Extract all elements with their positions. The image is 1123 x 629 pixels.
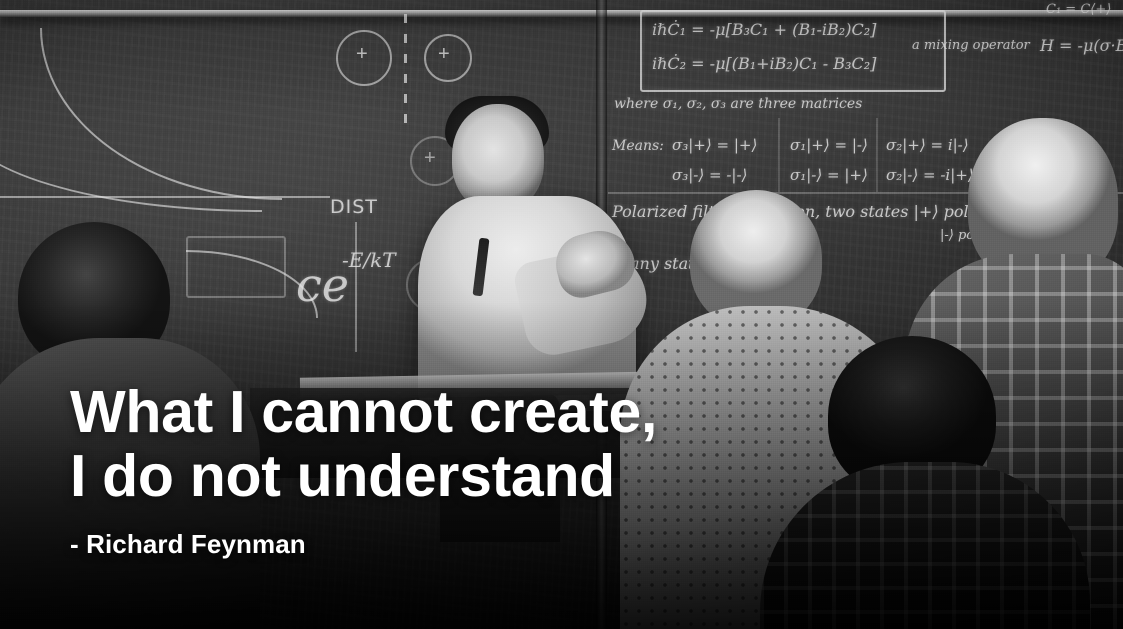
chalk-plus-2: +	[438, 44, 450, 64]
chalk-graph-axis	[355, 222, 357, 352]
chalk-ket-3: σ₁|+⟩ = |-⟩	[790, 136, 868, 154]
chalk-ket-5: σ₂|+⟩ = i|-⟩	[886, 136, 969, 154]
chalk-col-divider-2	[876, 118, 878, 192]
chalk-note-polarized: Polarized filter: direction, two states …	[612, 202, 1019, 221]
chalk-equation-1: iℏĊ₁ = -μ[B₃C₁ + (B₁-iB₂)C₂]	[652, 20, 876, 39]
quote-line-1: What I cannot create,	[70, 380, 770, 444]
chalk-note-mixing: a mixing operator	[912, 38, 1030, 53]
quote-line-2: I do not understand	[70, 444, 770, 508]
quote-block: What I cannot create, I do not understan…	[70, 380, 770, 560]
chalk-ket-6: σ₂|-⟩ = -i|+⟩	[886, 166, 974, 184]
chalk-ket-4: σ₁|-⟩ = |+⟩	[790, 166, 868, 184]
chalk-ket-2: σ₃|-⟩ = -|-⟩	[672, 166, 747, 184]
chalk-label-dist: DIST	[330, 196, 378, 218]
quote-image: DIST ce -E/kT + + + + iℏĊ₁ = -μ[B₃C₁ + (…	[0, 0, 1123, 629]
chalk-plus-1: +	[356, 44, 368, 64]
chalk-note-matrices: where σ₁, σ₂, σ₃ are three matrices	[614, 96, 862, 112]
chalk-graph-box	[186, 236, 286, 298]
quote-attribution: - Richard Feynman	[70, 529, 770, 560]
chalk-label-exponent: -E/kT	[342, 248, 396, 272]
chalk-col-divider-1	[778, 118, 780, 192]
chalk-axis-line	[0, 196, 330, 198]
chalk-note-means: Means:	[612, 138, 664, 154]
blackboard-top-rail	[0, 10, 1123, 17]
chalk-ket-1: σ₃|+⟩ = |+⟩	[672, 136, 757, 154]
chalk-note-hamiltonian: H = -μ(σ·B)	[1040, 36, 1123, 55]
chalk-note-c1: C₁ = C⟨+⟩	[1046, 2, 1111, 17]
chalk-plus-3: +	[424, 148, 436, 168]
chalk-dashed-line	[404, 14, 407, 126]
chalk-equation-2: iℏĊ₂ = -μ[(B₁+iB₂)C₁ - B₃C₂]	[652, 54, 876, 73]
